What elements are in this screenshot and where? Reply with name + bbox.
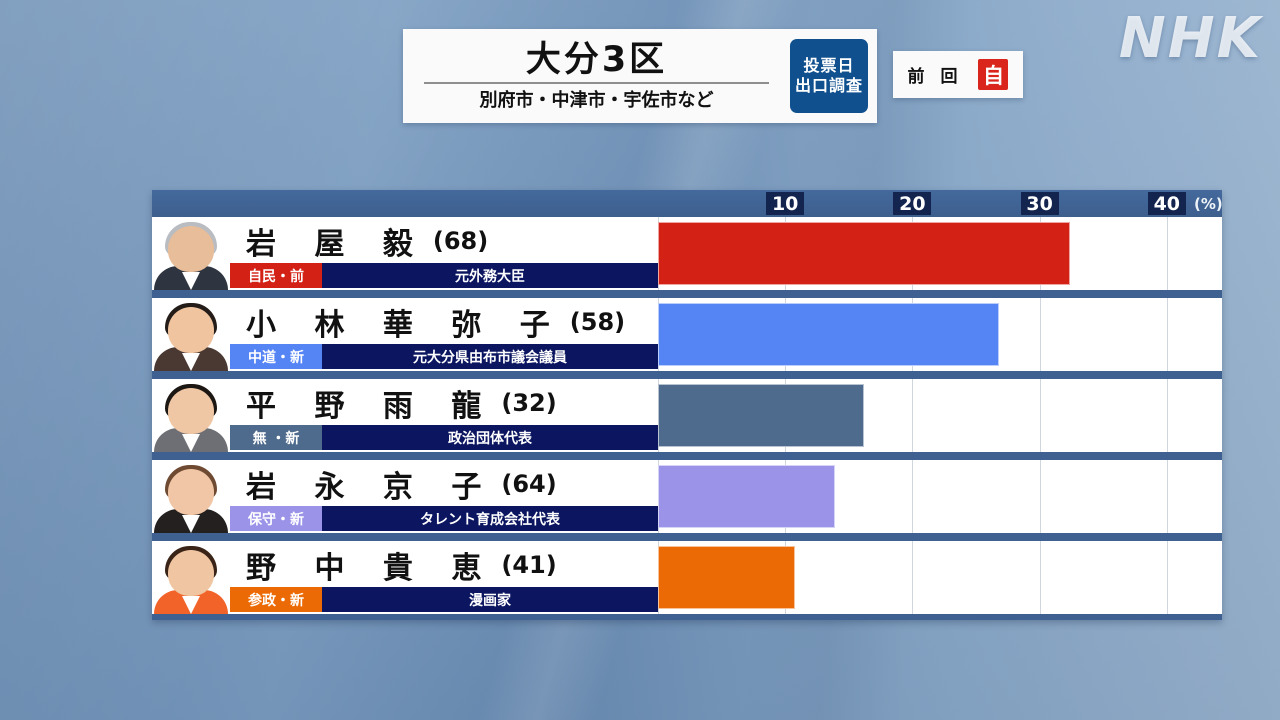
- gridline-40: [1167, 217, 1168, 290]
- candidate-bar-track: [658, 379, 1222, 452]
- gridline-20: [912, 460, 913, 533]
- axis-tick-40: 40: [1148, 192, 1186, 215]
- axis-tick-20: 20: [893, 192, 931, 215]
- gridline-20: [912, 541, 913, 614]
- candidate-name: 平 野 雨 龍: [246, 381, 495, 425]
- page-title: 大分3区: [526, 42, 667, 79]
- candidate-age: (64): [501, 470, 556, 498]
- candidate-career: タレント育成会社代表: [322, 506, 658, 531]
- candidate-career: 漫画家: [322, 587, 658, 612]
- candidate-name-line: 野 中 貴 恵(41): [230, 543, 658, 587]
- candidate-sub-line: 中道・新元大分県由布市議会議員: [230, 344, 658, 369]
- candidate-sub-line: 無 ・新政治団体代表: [230, 425, 658, 450]
- candidate-info: 野 中 貴 恵(41)参政・新漫画家: [152, 541, 658, 614]
- axis-tick-10: 10: [766, 192, 804, 215]
- candidate-row[interactable]: 小 林 華 弥 子(58)中道・新元大分県由布市議会議員: [152, 298, 1222, 371]
- candidate-main: 平 野 雨 龍(32)無 ・新政治団体代表: [230, 379, 658, 452]
- candidate-rows: 岩 屋 毅(68)自民・前元外務大臣小 林 華 弥 子(58)中道・新元大分県由…: [152, 217, 1222, 614]
- divider: [424, 82, 769, 84]
- vote-share-bar: [658, 546, 795, 609]
- candidate-row[interactable]: 平 野 雨 龍(32)無 ・新政治団体代表: [152, 379, 1222, 452]
- previous-winner-party-badge: 自: [978, 59, 1008, 90]
- gridline-30: [1040, 379, 1041, 452]
- candidate-bar-track: [658, 460, 1222, 533]
- candidate-name-line: 小 林 華 弥 子(58): [230, 300, 658, 344]
- candidate-main: 岩 永 京 子(64)保守・新タレント育成会社代表: [230, 460, 658, 533]
- candidate-age: (32): [501, 389, 556, 417]
- gridline-40: [1167, 541, 1168, 614]
- party-status-badge: 自民・前: [230, 263, 322, 288]
- candidate-age: (41): [501, 551, 556, 579]
- gridline-30: [1040, 460, 1041, 533]
- candidate-name: 岩 屋 毅: [246, 219, 427, 263]
- vote-share-bar: [658, 303, 999, 366]
- axis-tick-30: 30: [1021, 192, 1059, 215]
- candidate-career: 政治団体代表: [322, 425, 658, 450]
- candidate-name-line: 岩 屋 毅(68): [230, 219, 658, 263]
- axis-unit-label: (%): [1194, 195, 1223, 213]
- party-status-badge: 中道・新: [230, 344, 322, 369]
- district-header: 大分3区 別府市・中津市・宇佐市など 投票日 出口調査: [403, 29, 877, 123]
- gridline-40: [1167, 460, 1168, 533]
- candidate-career: 元外務大臣: [322, 263, 658, 288]
- party-status-badge: 保守・新: [230, 506, 322, 531]
- candidate-sub-line: 自民・前元外務大臣: [230, 263, 658, 288]
- gridline-30: [1040, 298, 1041, 371]
- candidate-row[interactable]: 岩 屋 毅(68)自民・前元外務大臣: [152, 217, 1222, 290]
- candidate-age: (68): [433, 227, 488, 255]
- candidate-row[interactable]: 岩 永 京 子(64)保守・新タレント育成会社代表: [152, 460, 1222, 533]
- survey-type-badge: 投票日 出口調査: [790, 39, 868, 113]
- candidate-name: 野 中 貴 恵: [246, 543, 495, 587]
- candidate-portrait: [152, 460, 230, 533]
- candidate-info: 岩 屋 毅(68)自民・前元外務大臣: [152, 217, 658, 290]
- candidate-career: 元大分県由布市議会議員: [322, 344, 658, 369]
- gridline-20: [912, 379, 913, 452]
- candidate-main: 野 中 貴 恵(41)参政・新漫画家: [230, 541, 658, 614]
- candidate-portrait: [152, 217, 230, 290]
- gridline-40: [1167, 379, 1168, 452]
- results-chart-panel: 10203040(%) 岩 屋 毅(68)自民・前元外務大臣小 林 華 弥 子(…: [152, 190, 1222, 620]
- gridline-40: [1167, 298, 1168, 371]
- district-header-text: 大分3区 別府市・中津市・宇佐市など: [403, 29, 790, 123]
- vote-share-bar: [658, 465, 835, 528]
- candidate-bar-track: [658, 298, 1222, 371]
- candidate-bar-track: [658, 541, 1222, 614]
- survey-badge-line1: 投票日: [803, 56, 854, 76]
- candidate-sub-line: 参政・新漫画家: [230, 587, 658, 612]
- chart-axis: 10203040(%): [152, 190, 1222, 217]
- candidate-info: 小 林 華 弥 子(58)中道・新元大分県由布市議会議員: [152, 298, 658, 371]
- candidate-name: 岩 永 京 子: [246, 462, 495, 506]
- candidate-name-line: 平 野 雨 龍(32): [230, 381, 658, 425]
- candidate-name-line: 岩 永 京 子(64): [230, 462, 658, 506]
- candidate-name: 小 林 華 弥 子: [246, 300, 564, 344]
- vote-share-bar: [658, 222, 1070, 285]
- previous-winner-box: 前 回 自: [893, 51, 1023, 98]
- survey-badge-line2: 出口調査: [795, 76, 863, 96]
- candidate-main: 小 林 華 弥 子(58)中道・新元大分県由布市議会議員: [230, 298, 658, 371]
- candidate-sub-line: 保守・新タレント育成会社代表: [230, 506, 658, 531]
- party-status-badge: 参政・新: [230, 587, 322, 612]
- candidate-portrait: [152, 298, 230, 371]
- gridline-30: [1040, 541, 1041, 614]
- candidate-main: 岩 屋 毅(68)自民・前元外務大臣: [230, 217, 658, 290]
- candidate-info: 平 野 雨 龍(32)無 ・新政治団体代表: [152, 379, 658, 452]
- nhk-logo: NHK: [1119, 6, 1262, 71]
- candidate-info: 岩 永 京 子(64)保守・新タレント育成会社代表: [152, 460, 658, 533]
- candidate-age: (58): [570, 308, 625, 336]
- candidate-portrait: [152, 379, 230, 452]
- vote-share-bar: [658, 384, 864, 447]
- previous-winner-label: 前 回: [908, 62, 963, 87]
- district-subtitle: 別府市・中津市・宇佐市など: [480, 86, 714, 112]
- candidate-portrait: [152, 541, 230, 614]
- candidate-row[interactable]: 野 中 貴 恵(41)参政・新漫画家: [152, 541, 1222, 614]
- candidate-bar-track: [658, 217, 1222, 290]
- party-status-badge: 無 ・新: [230, 425, 322, 450]
